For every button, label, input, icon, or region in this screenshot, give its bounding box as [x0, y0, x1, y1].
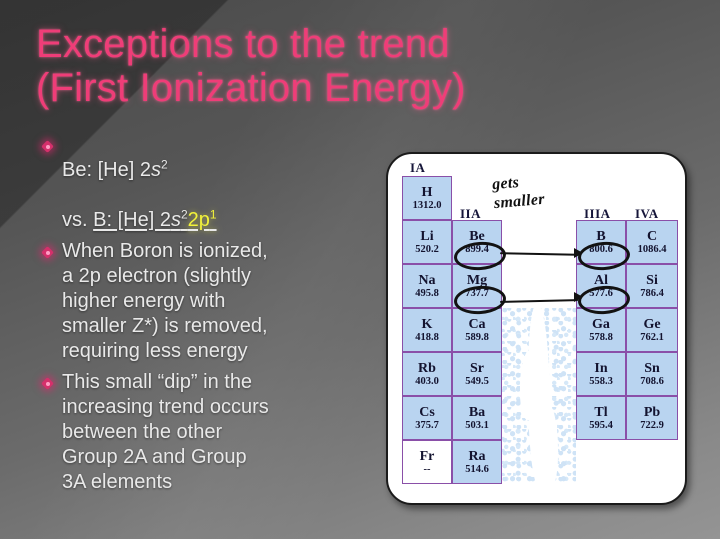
b-config-highlight: 2p — [188, 209, 210, 231]
b-config-highlight-superscript: 1 — [210, 207, 217, 221]
element-value: 403.0 — [415, 376, 439, 388]
element-symbol: Sr — [470, 361, 484, 376]
b-config-superscript: 2 — [181, 207, 188, 221]
element-symbol: Cs — [419, 405, 435, 420]
element-value: 375.7 — [415, 420, 439, 432]
ink-arrow-mg-to-al-head — [574, 292, 583, 302]
element-symbol: H — [422, 185, 433, 200]
element-value: 595.4 — [589, 420, 613, 432]
element-value: 558.3 — [589, 376, 613, 388]
table-cell-in: In558.3 — [576, 352, 626, 396]
table-cell-na: Na495.8 — [402, 264, 452, 308]
element-value: 495.8 — [415, 288, 439, 300]
table-cell-cs: Cs375.7 — [402, 396, 452, 440]
table-cell-ca: Ca589.8 — [452, 308, 502, 352]
slide: Exceptions to the trend (First Ionizatio… — [0, 0, 720, 539]
ink-arrow-be-to-b-head — [574, 248, 583, 258]
be-config-prefix: Be: [He] 2 — [62, 159, 151, 181]
bullet-diamond-icon — [40, 141, 62, 155]
table-cell-ba: Ba503.1 — [452, 396, 502, 440]
group-label-ia: IA — [410, 160, 425, 176]
element-symbol: Na — [418, 273, 435, 288]
table-cell-pb: Pb722.9 — [626, 396, 678, 440]
element-symbol: Rb — [418, 361, 436, 376]
b-config-underlined: B: [He] 2s22p1 — [93, 209, 216, 231]
table-cell-c: C1086.4 — [626, 220, 678, 264]
element-value: 549.5 — [465, 376, 489, 388]
element-symbol: Tl — [594, 405, 607, 420]
table-cell-tl: Tl595.4 — [576, 396, 626, 440]
table-cell-h: H1312.0 — [402, 176, 452, 220]
handwritten-gets-smaller-annotation: gets smaller — [491, 171, 545, 213]
table-cell-ge: Ge762.1 — [626, 308, 678, 352]
element-symbol: Ge — [643, 317, 660, 332]
table-cell-fr: Fr-- — [402, 440, 452, 484]
element-value: 514.6 — [465, 464, 489, 476]
element-symbol: Ba — [469, 405, 485, 420]
list-item: This small “dip” in the increasing trend… — [40, 370, 380, 495]
bullet-dip: This small “dip” in the increasing trend… — [62, 370, 380, 495]
element-symbol: Ra — [468, 449, 485, 464]
vs-lead: vs. — [62, 209, 93, 231]
element-value: 1086.4 — [638, 244, 667, 256]
element-symbol: In — [594, 361, 607, 376]
ink-arrow-mg-to-al-shaft — [500, 299, 578, 303]
table-cell-li: Li520.2 — [402, 220, 452, 264]
element-symbol: Sn — [644, 361, 660, 376]
element-value: 589.8 — [465, 332, 489, 344]
b-config-italic-s: s — [171, 209, 181, 231]
element-symbol: Li — [420, 229, 433, 244]
table-cell-ra: Ra514.6 — [452, 440, 502, 484]
torn-page-gap — [538, 404, 558, 488]
element-value: 503.1 — [465, 420, 489, 432]
element-symbol: Ca — [468, 317, 485, 332]
periodic-table-image: IA IIA IIIA IVA gets smaller H1312.0 Li5… — [386, 152, 687, 505]
element-symbol: K — [422, 317, 433, 332]
table-cell-si: Si786.4 — [626, 264, 678, 308]
table-cell-ga: Ga578.8 — [576, 308, 626, 352]
element-symbol: C — [647, 229, 657, 244]
table-cell-sn: Sn708.6 — [626, 352, 678, 396]
bullet-list: Be: [He] 2s2 vs. B: [He] 2s22p1 When Bor… — [40, 133, 380, 501]
element-value: 722.9 — [640, 420, 664, 432]
be-config-italic-s: s — [151, 159, 161, 181]
element-value: 1312.0 — [413, 200, 442, 212]
list-item: When Boron is ionized, a 2p electron (sl… — [40, 239, 380, 364]
bullet-boron-ionized: When Boron is ionized, a 2p electron (sl… — [62, 239, 380, 364]
element-value: 708.6 — [640, 376, 664, 388]
element-value: 578.8 — [589, 332, 613, 344]
element-value: 520.2 — [415, 244, 439, 256]
table-cell-k: K418.8 — [402, 308, 452, 352]
table-cell-sr: Sr549.5 — [452, 352, 502, 396]
bullet-configurations: Be: [He] 2s2 vs. B: [He] 2s22p1 — [62, 133, 380, 233]
element-symbol: Si — [646, 273, 658, 288]
element-value: -- — [424, 464, 431, 476]
ink-arrow-be-to-b-shaft — [500, 252, 578, 256]
periodic-table-canvas: IA IIA IIIA IVA gets smaller H1312.0 Li5… — [388, 154, 685, 503]
be-config-superscript: 2 — [161, 157, 168, 171]
element-value: 762.1 — [640, 332, 664, 344]
element-value: 418.8 — [415, 332, 439, 344]
b-config-prefix: B: [He] 2 — [93, 209, 171, 231]
bullet-diamond-icon — [40, 378, 62, 392]
element-symbol: Pb — [644, 405, 660, 420]
page-title: Exceptions to the trend (First Ionizatio… — [36, 22, 576, 110]
element-symbol: Fr — [420, 449, 435, 464]
element-value: 786.4 — [640, 288, 664, 300]
list-item: Be: [He] 2s2 vs. B: [He] 2s22p1 — [40, 133, 380, 233]
bullet-diamond-icon — [40, 247, 62, 261]
table-cell-rb: Rb403.0 — [402, 352, 452, 396]
element-symbol: Ga — [592, 317, 610, 332]
